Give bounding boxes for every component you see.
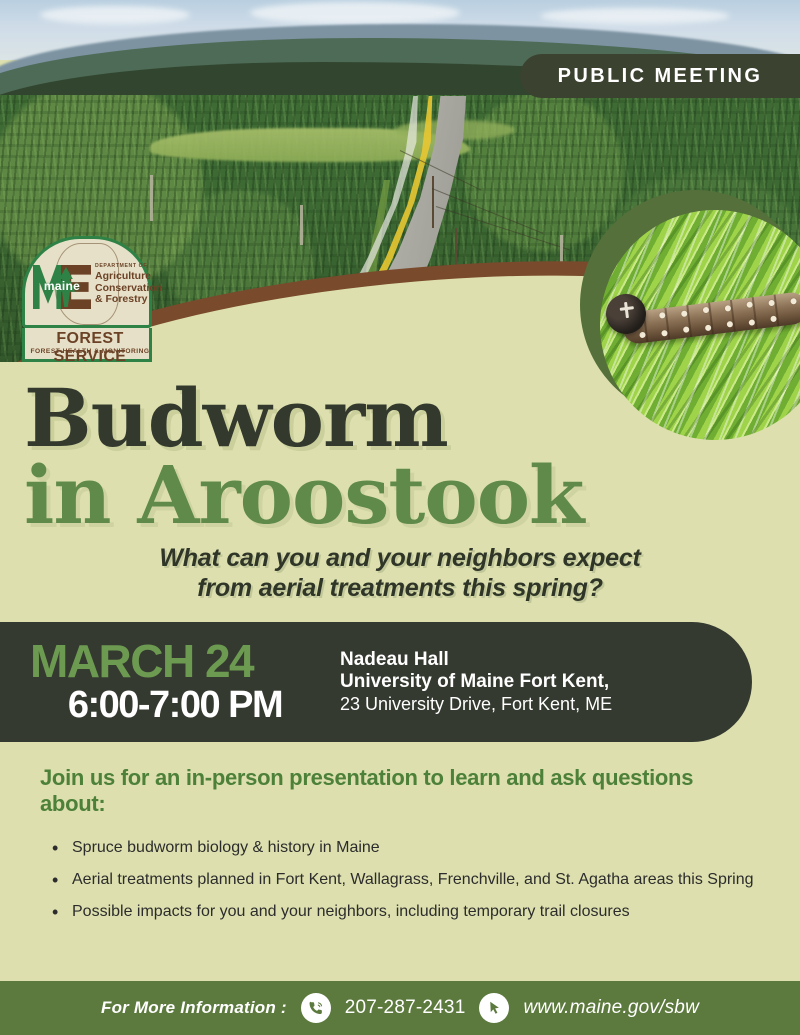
venue-address: 23 University Drive, Fort Kent, ME [340, 693, 612, 715]
budworm-caterpillar-photo [600, 210, 800, 440]
public-meeting-label: PUBLIC MEETING [558, 65, 763, 88]
footer-label: For More Information : [101, 998, 287, 1018]
dead-tree-1 [150, 175, 153, 221]
venue-name: Nadeau Hall [340, 649, 612, 671]
maine-forest-service-logo: maine DEPARTMENT OF Agriculture Conserva… [22, 236, 152, 362]
event-details-band: MARCH 24 6:00-7:00 PM Nadeau Hall Univer… [0, 622, 752, 742]
event-time: 6:00-7:00 PM [30, 684, 320, 726]
logo-dept-line-1: Agriculture [95, 271, 155, 283]
lead-paragraph: Join us for an in-person presentation to… [40, 765, 740, 817]
logo-banner: FOREST SERVICE FOREST HEALTH & MONITORIN… [22, 328, 152, 362]
phone-icon [301, 993, 331, 1023]
logo-department-kicker: DEPARTMENT OF [95, 263, 153, 269]
page-subtitle-line-2: from aerial treatments this spring? [0, 573, 800, 603]
event-date-block: MARCH 24 6:00-7:00 PM [0, 638, 340, 726]
event-venue-block: Nadeau Hall University of Maine Fort Ken… [340, 649, 612, 715]
list-item: Possible impacts for you and your neighb… [44, 897, 774, 927]
poster-root: PUBLIC MEETING maine DEPARTMENT OF Agric… [0, 0, 800, 1035]
cloud-1 [40, 6, 190, 24]
list-item: Aerial treatments planned in Fort Kent, … [44, 865, 774, 895]
cloud-3 [540, 8, 730, 24]
page-title-line-1: Budworm [24, 378, 448, 458]
caterpillar-head-marking [619, 301, 635, 319]
cursor-icon [479, 993, 509, 1023]
power-pole-2 [432, 176, 434, 228]
footer-phone-number[interactable]: 207-287-2431 [345, 997, 466, 1019]
logo-department-names: Agriculture Conservation & Forestry [95, 271, 155, 306]
page-subtitle-line-1: What can you and your neighbors expect [0, 543, 800, 573]
public-meeting-badge: PUBLIC MEETING [520, 54, 800, 98]
page-title-line-2: in Aroostook [24, 455, 583, 535]
footer-website-url[interactable]: www.maine.gov/sbw [523, 997, 699, 1019]
logo-dept-line-3: & Forestry [95, 294, 155, 306]
event-date: MARCH 24 [30, 638, 340, 684]
page-subtitle: What can you and your neighbors expect f… [0, 543, 800, 603]
topics-list: Spruce budworm biology & history in Main… [44, 833, 774, 929]
cloud-2 [250, 2, 460, 24]
venue-organization: University of Maine Fort Kent, [340, 671, 612, 693]
logo-banner-subtitle: FOREST HEALTH & MONITORING [25, 348, 155, 355]
footer-contact-bar: For More Information : 207-287-2431 www.… [0, 981, 800, 1035]
logo-wordmark: maine [33, 279, 91, 293]
list-item: Spruce budworm biology & history in Main… [44, 833, 774, 863]
dead-tree-3 [300, 205, 303, 245]
logo-shield: maine DEPARTMENT OF Agriculture Conserva… [22, 236, 152, 328]
